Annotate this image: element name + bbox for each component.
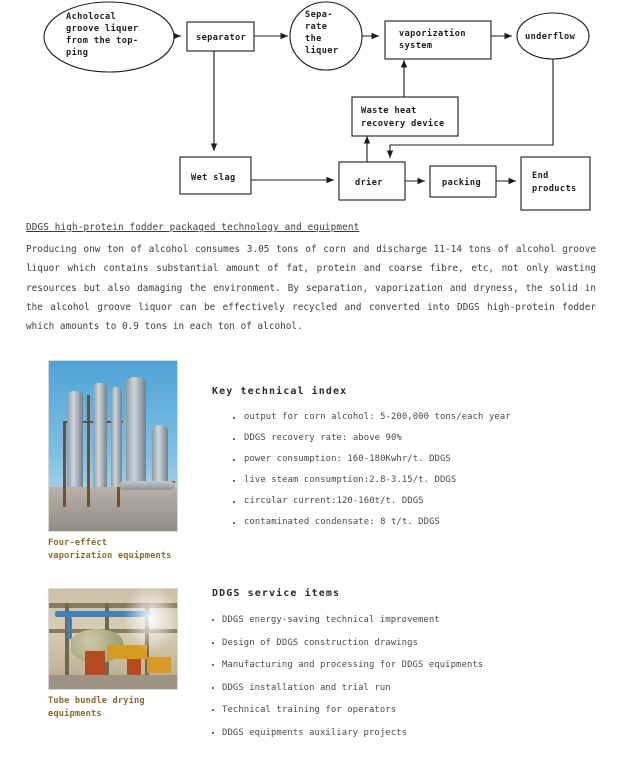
storage-tank: [152, 425, 168, 487]
node-separator[interactable]: separator: [187, 22, 254, 51]
svg-text:system: system: [399, 41, 432, 51]
horizontal-tank: [119, 481, 175, 490]
tube-bundle-photo-block: Tube bundle dryingequipments: [48, 588, 180, 720]
list-item: output for corn alcohol: 5-200,000 tons/…: [244, 407, 612, 428]
svg-text:the: the: [305, 34, 322, 44]
node-drier[interactable]: drier: [339, 162, 405, 200]
node-underflow[interactable]: underflow: [517, 13, 589, 59]
technical-index-list: output for corn alcohol: 5-200,000 tons/…: [212, 407, 612, 533]
distillation-column: [111, 387, 122, 487]
list-item: Technical training for operators: [222, 699, 612, 722]
svg-text:vaporization: vaporization: [399, 28, 466, 39]
svg-text:Waste heat: Waste heat: [361, 106, 417, 116]
svg-text:underflow: underflow: [525, 32, 576, 42]
blue-pipe: [67, 617, 72, 639]
process-flow-diagram: Acholocal groove liquer from the top- pi…: [0, 0, 620, 218]
machinery-unit: [85, 651, 105, 677]
svg-text:liquer: liquer: [305, 45, 338, 56]
vaporization-equipment-photo: [48, 360, 178, 532]
list-item: contaminated condensate: 8 t/t. DDGS: [244, 512, 612, 533]
svg-text:Sepa-: Sepa-: [305, 10, 333, 20]
node-end-products[interactable]: End products: [521, 157, 590, 210]
list-item: Manufacturing and processing for DDGS eq…: [222, 654, 612, 677]
article-body: Producing onw ton of alcohol consumes 3.…: [26, 240, 596, 336]
distillation-column: [67, 391, 83, 487]
distillation-column: [93, 383, 107, 487]
steel-frame: [87, 395, 90, 507]
svg-text:recovery device: recovery device: [361, 118, 445, 129]
ground-strip: [49, 675, 177, 689]
svg-text:separator: separator: [196, 33, 246, 43]
svg-text:packing: packing: [442, 177, 481, 188]
node-separate-the-liquer[interactable]: Sepa- rate the liquer: [290, 2, 362, 70]
svg-text:ping: ping: [66, 47, 88, 58]
svg-text:Wet slag: Wet slag: [191, 173, 236, 183]
node-wet-slag[interactable]: Wet slag: [180, 157, 251, 194]
svg-text:products: products: [532, 184, 577, 194]
svg-text:End: End: [532, 171, 549, 181]
technical-text-block: Key technical index output for corn alco…: [212, 386, 612, 533]
vaporization-photo-block: Four-effectvaporization equipments: [48, 360, 180, 562]
svg-text:rate: rate: [305, 22, 327, 32]
technical-index-title: Key technical index: [212, 386, 612, 397]
service-items-title: DDGS service items: [212, 588, 612, 599]
node-packing[interactable]: packing: [430, 166, 496, 197]
svg-text:groove liquer: groove liquer: [66, 23, 138, 34]
list-item: DDGS recovery rate: above 90%: [244, 428, 612, 449]
article-section: DDGS high-protein fodder packaged techno…: [26, 222, 596, 336]
article-heading: DDGS high-protein fodder packaged techno…: [26, 222, 596, 233]
service-items-list: DDGS energy-saving technical improvement…: [212, 609, 612, 744]
distillation-column: [126, 377, 146, 487]
list-item: DDGS equipments auxiliary projects: [222, 722, 612, 745]
list-item: live steam consumption:2.8-3.15/t. DDGS: [244, 470, 612, 491]
node-alcohol-liquer[interactable]: Acholocal groove liquer from the top- pi…: [44, 2, 174, 72]
list-item: DDGS energy-saving technical improvement: [222, 609, 612, 632]
machinery-unit: [147, 657, 171, 673]
svg-text:drier: drier: [355, 177, 383, 188]
steam-plume: [123, 589, 177, 653]
list-item: DDGS installation and trial run: [222, 677, 612, 700]
tube-bundle-photo-caption: Tube bundle dryingequipments: [48, 695, 180, 720]
vaporization-photo-caption: Four-effectvaporization equipments: [48, 537, 180, 562]
svg-text:from the top-: from the top-: [66, 36, 138, 46]
service-text-block: DDGS service items DDGS energy-saving te…: [212, 588, 612, 744]
node-waste-heat-recovery-device[interactable]: Waste heat recovery device: [352, 97, 458, 136]
steel-frame: [63, 421, 66, 507]
tube-bundle-drying-photo: [48, 588, 178, 690]
list-item: Design of DDGS construction drawings: [222, 632, 612, 655]
node-vaporization-system[interactable]: vaporization system: [385, 21, 491, 59]
list-item: power consumption: 160-180Kwhr/t. DDGS: [244, 449, 612, 470]
node-label-alcohol-liquer-l1: Acholocal: [66, 12, 116, 22]
list-item: circular current:120-160t/t. DDGS: [244, 491, 612, 512]
ground-area: [49, 487, 177, 531]
